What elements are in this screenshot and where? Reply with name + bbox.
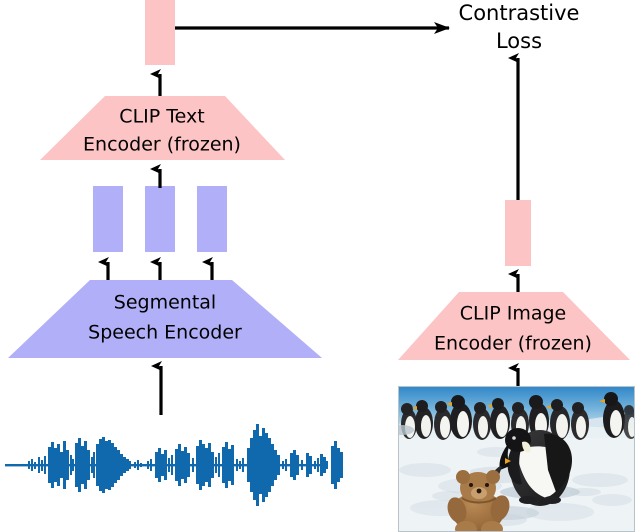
image-embedding-bar[interactable]: [505, 200, 531, 266]
clip-text-encoder-line2: Encoder (frozen): [83, 134, 241, 156]
clip-text-encoder-line1: CLIP Text: [119, 106, 204, 128]
segmental-speech-encoder-line1: Segmental: [114, 292, 216, 314]
segment-embedding-3[interactable]: [197, 186, 227, 252]
clip-text-encoder[interactable]: CLIP Text Encoder (frozen): [40, 96, 285, 160]
diagram-canvas: Segmental Speech Encoder CLIP Text Encod…: [0, 0, 640, 532]
contrastive-loss-label: Contrastive Loss: [459, 1, 580, 53]
input-image: [390, 386, 639, 532]
clip-image-encoder-line2: Encoder (frozen): [434, 333, 592, 355]
clip-image-encoder[interactable]: CLIP Image Encoder (frozen): [398, 292, 630, 360]
segmental-speech-encoder-line2: Speech Encoder: [88, 322, 242, 344]
segment-embedding-1[interactable]: [93, 186, 123, 252]
clip-image-encoder-line1: CLIP Image: [460, 303, 566, 325]
diagram-svg: Segmental Speech Encoder CLIP Text Encod…: [0, 0, 640, 532]
contrastive-loss-line2: Loss: [496, 29, 542, 53]
segment-embedding-2[interactable]: [145, 186, 175, 252]
speech-waveform: [5, 424, 343, 506]
contrastive-loss-line1: Contrastive: [459, 1, 580, 25]
segmental-speech-encoder[interactable]: Segmental Speech Encoder: [8, 280, 322, 358]
text-embedding-bar[interactable]: [145, 0, 175, 65]
